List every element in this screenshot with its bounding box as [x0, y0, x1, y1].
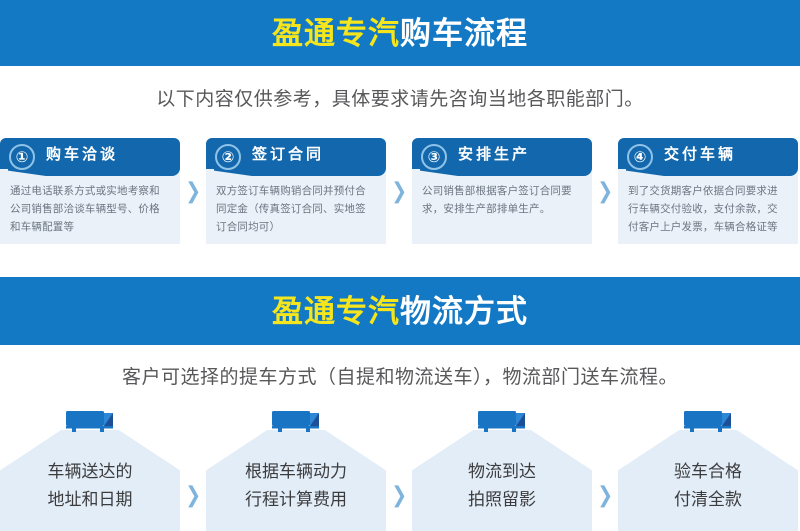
step-description: 到了交货期客户依据合同要求进行车辆交付验收，支付余款，交付客户上户发票，车辆合格… [618, 169, 798, 236]
purchase-flow-subtitle: 以下内容仅供参考，具体要求请先咨询当地各职能部门。 [0, 84, 800, 111]
step-card-4: ④ 交付车辆 到了交货期客户依据合同要求进行车辆交付验收，支付余款，交付客户上户… [618, 138, 798, 244]
banner-title: 盈通专汽物流方式 [272, 296, 528, 327]
chevron-right-icon: ❯ [180, 138, 206, 244]
truck-icon [63, 408, 117, 434]
chevron-glyph: ❯ [391, 484, 407, 506]
step-number-badge: ④ [627, 144, 653, 170]
logistics-card-2: 根据车辆动力 行程计算费用 [206, 406, 386, 531]
step-description: 通过电话联系方式或实地考察和公司销售部洽谈车辆型号、价格和车辆配置等 [0, 169, 180, 236]
chevron-right-icon: ❯ [386, 138, 412, 244]
step-number-badge: ③ [421, 144, 447, 170]
step-title: 签订合同 [252, 138, 324, 169]
step-description: 公司销售部根据客户签订合同要求，安排生产部排单生产。 [412, 169, 592, 218]
truck-icon [475, 408, 529, 434]
logistics-steps-row: 车辆送达的 地址和日期 ❯ 根据车辆动力 行程计算费用 ❯ [0, 406, 800, 531]
logistics-label-line2: 地址和日期 [0, 486, 180, 514]
logistics-label-line2: 付清全款 [618, 486, 798, 514]
logistics-card-label: 根据车辆动力 行程计算费用 [206, 458, 386, 513]
logistics-card-3: 物流到达 拍照留影 [412, 406, 592, 531]
chevron-right-icon: ❯ [592, 138, 618, 244]
logistics-banner: 盈通专汽物流方式 [0, 277, 800, 345]
step-header-3: ③ 安排生产 [412, 138, 592, 169]
step-number-badge: ① [9, 144, 35, 170]
chevron-right-icon: ❯ [386, 406, 412, 531]
logistics-card-label: 物流到达 拍照留影 [412, 458, 592, 513]
chevron-glyph: ❯ [391, 180, 407, 202]
brand-name: 盈通专汽 [272, 294, 400, 329]
banner-title: 盈通专汽购车流程 [272, 18, 528, 49]
step-header-1: ① 购车洽谈 [0, 138, 180, 169]
logistics-card-label: 车辆送达的 地址和日期 [0, 458, 180, 513]
chevron-glyph: ❯ [597, 484, 613, 506]
step-card-2: ② 签订合同 双方签订车辆购销合同并预付合同定金（传真签订合同、实地签订合同均可… [206, 138, 386, 244]
step-card-3: ③ 安排生产 公司销售部根据客户签订合同要求，安排生产部排单生产。 [412, 138, 592, 244]
logistics-label-line2: 行程计算费用 [206, 486, 386, 514]
step-description: 双方签订车辆购销合同并预付合同定金（传真签订合同、实地签订合同均可） [206, 169, 386, 236]
chevron-right-icon: ❯ [592, 406, 618, 531]
logistics-label-line1: 车辆送达的 [0, 458, 180, 486]
logistics-card-label: 验车合格 付清全款 [618, 458, 798, 513]
chevron-glyph: ❯ [185, 180, 201, 202]
purchase-flow-banner: 盈通专汽购车流程 [0, 0, 800, 66]
truck-icon [269, 408, 323, 434]
logistics-label-line1: 根据车辆动力 [206, 458, 386, 486]
logistics-label-line1: 物流到达 [412, 458, 592, 486]
logistics-card-4: 验车合格 付清全款 [618, 406, 798, 531]
step-card-1: ① 购车洽谈 通过电话联系方式或实地考察和公司销售部洽谈车辆型号、价格和车辆配置… [0, 138, 180, 244]
banner-topic: 购车流程 [400, 16, 528, 51]
logistics-label-line2: 拍照留影 [412, 486, 592, 514]
banner-topic: 物流方式 [400, 294, 528, 329]
chevron-right-icon: ❯ [180, 406, 206, 531]
logistics-label-line1: 验车合格 [618, 458, 798, 486]
chevron-glyph: ❯ [597, 180, 613, 202]
truck-icon [681, 408, 735, 434]
purchase-steps-row: ① 购车洽谈 通过电话联系方式或实地考察和公司销售部洽谈车辆型号、价格和车辆配置… [0, 138, 800, 250]
step-number-badge: ② [215, 144, 241, 170]
step-title: 购车洽谈 [46, 138, 118, 169]
logistics-subtitle: 客户可选择的提车方式（自提和物流送车），物流部门送车流程。 [0, 362, 800, 389]
step-title: 交付车辆 [664, 138, 736, 169]
chevron-glyph: ❯ [185, 484, 201, 506]
logistics-card-1: 车辆送达的 地址和日期 [0, 406, 180, 531]
brand-name: 盈通专汽 [272, 16, 400, 51]
step-header-2: ② 签订合同 [206, 138, 386, 169]
step-header-4: ④ 交付车辆 [618, 138, 798, 169]
step-title: 安排生产 [458, 138, 530, 169]
